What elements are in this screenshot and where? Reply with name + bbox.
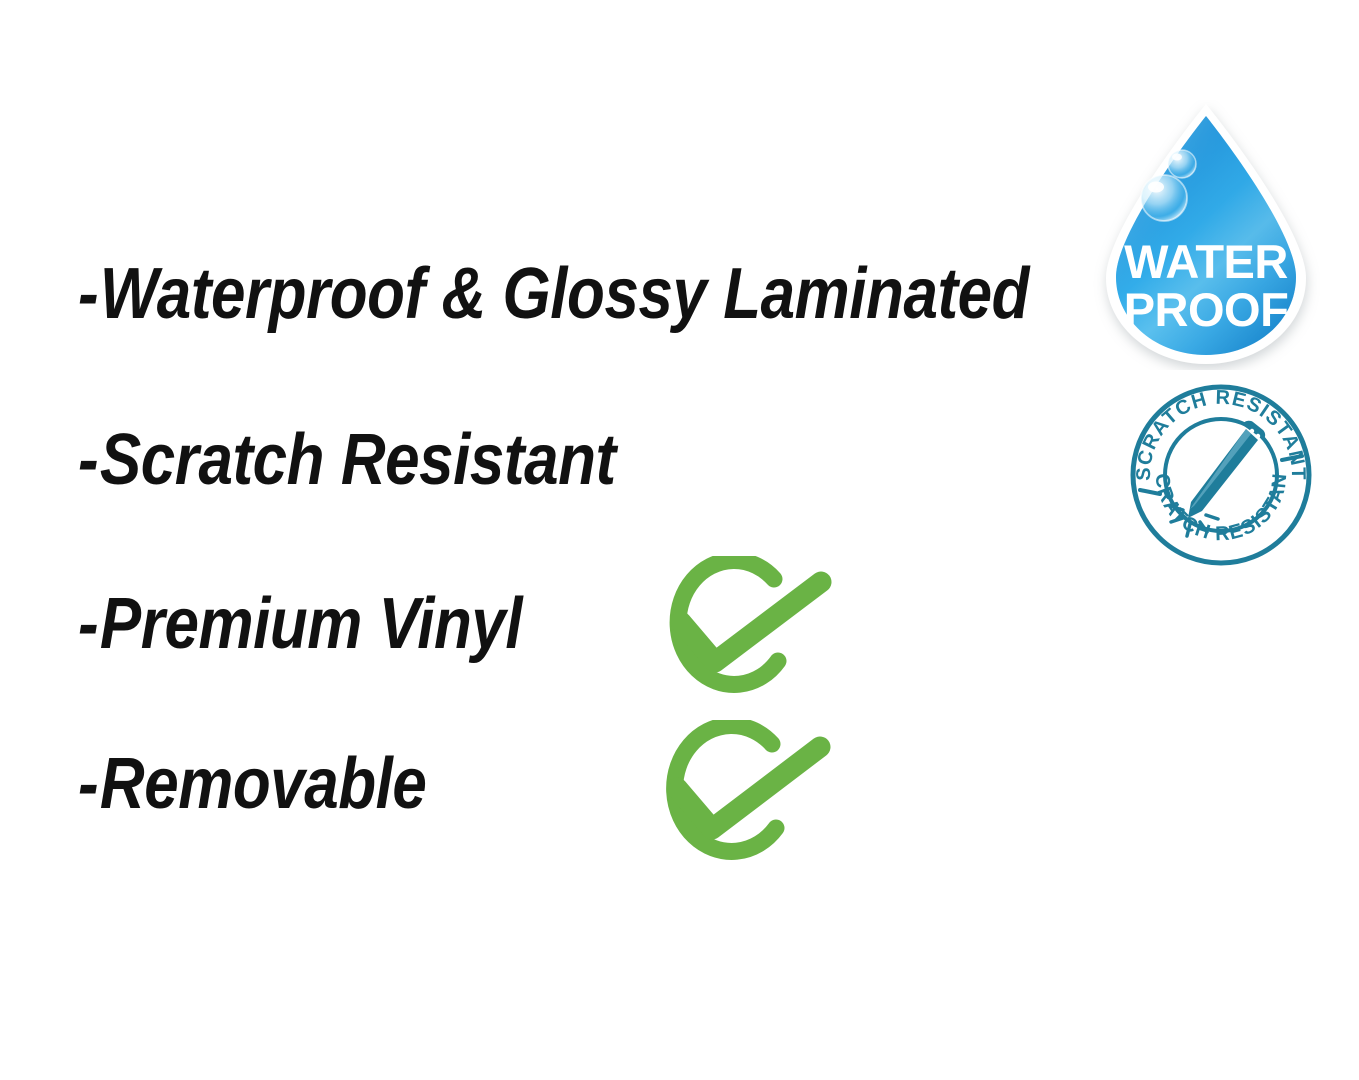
feature-bullet-dash: - (78, 258, 98, 330)
check-mark-premium-vinyl (641, 556, 837, 708)
feature-item-removable: -Removable (78, 748, 426, 820)
knife-blade-edge (1190, 429, 1251, 509)
feature-bullet-dash: - (78, 588, 98, 660)
feature-item-scratch-resistant: -Scratch Resistant (78, 424, 616, 496)
feature-label: Premium Vinyl (100, 584, 522, 664)
check-mark-removable (636, 720, 836, 876)
feature-label: Waterproof & Glossy Laminated (100, 254, 1029, 334)
waterproof-badge: WATER PROOF (1092, 100, 1320, 370)
check-tick-icon (681, 582, 821, 662)
scratch-resistant-badge: SCRATCH RESISTANT SCRATCH RESISTANT (1128, 382, 1314, 568)
feature-bullet-dash: - (78, 748, 98, 820)
waterproof-line2: PROOF (1124, 283, 1289, 336)
knife-blade (1188, 429, 1258, 518)
check-tick-icon (677, 747, 820, 829)
bubble-small-highlight (1172, 154, 1182, 161)
knife-rivet (1250, 429, 1254, 433)
bubble-large-highlight (1148, 182, 1164, 193)
feature-label: Scratch Resistant (100, 420, 616, 500)
knife-rivet (1256, 434, 1260, 438)
feature-bullet-dash: - (78, 424, 98, 496)
bubble-large-icon (1141, 175, 1187, 221)
waterproof-line1: WATER (1124, 235, 1288, 288)
feature-item-premium-vinyl: -Premium Vinyl (78, 588, 522, 660)
feature-item-waterproof: -Waterproof & Glossy Laminated (78, 258, 1029, 330)
product-feature-panel: -Waterproof & Glossy Laminated -Scratch … (0, 0, 1359, 1080)
bubble-small-icon (1168, 150, 1196, 178)
feature-label: Removable (100, 744, 427, 824)
impact-line (1206, 515, 1218, 519)
